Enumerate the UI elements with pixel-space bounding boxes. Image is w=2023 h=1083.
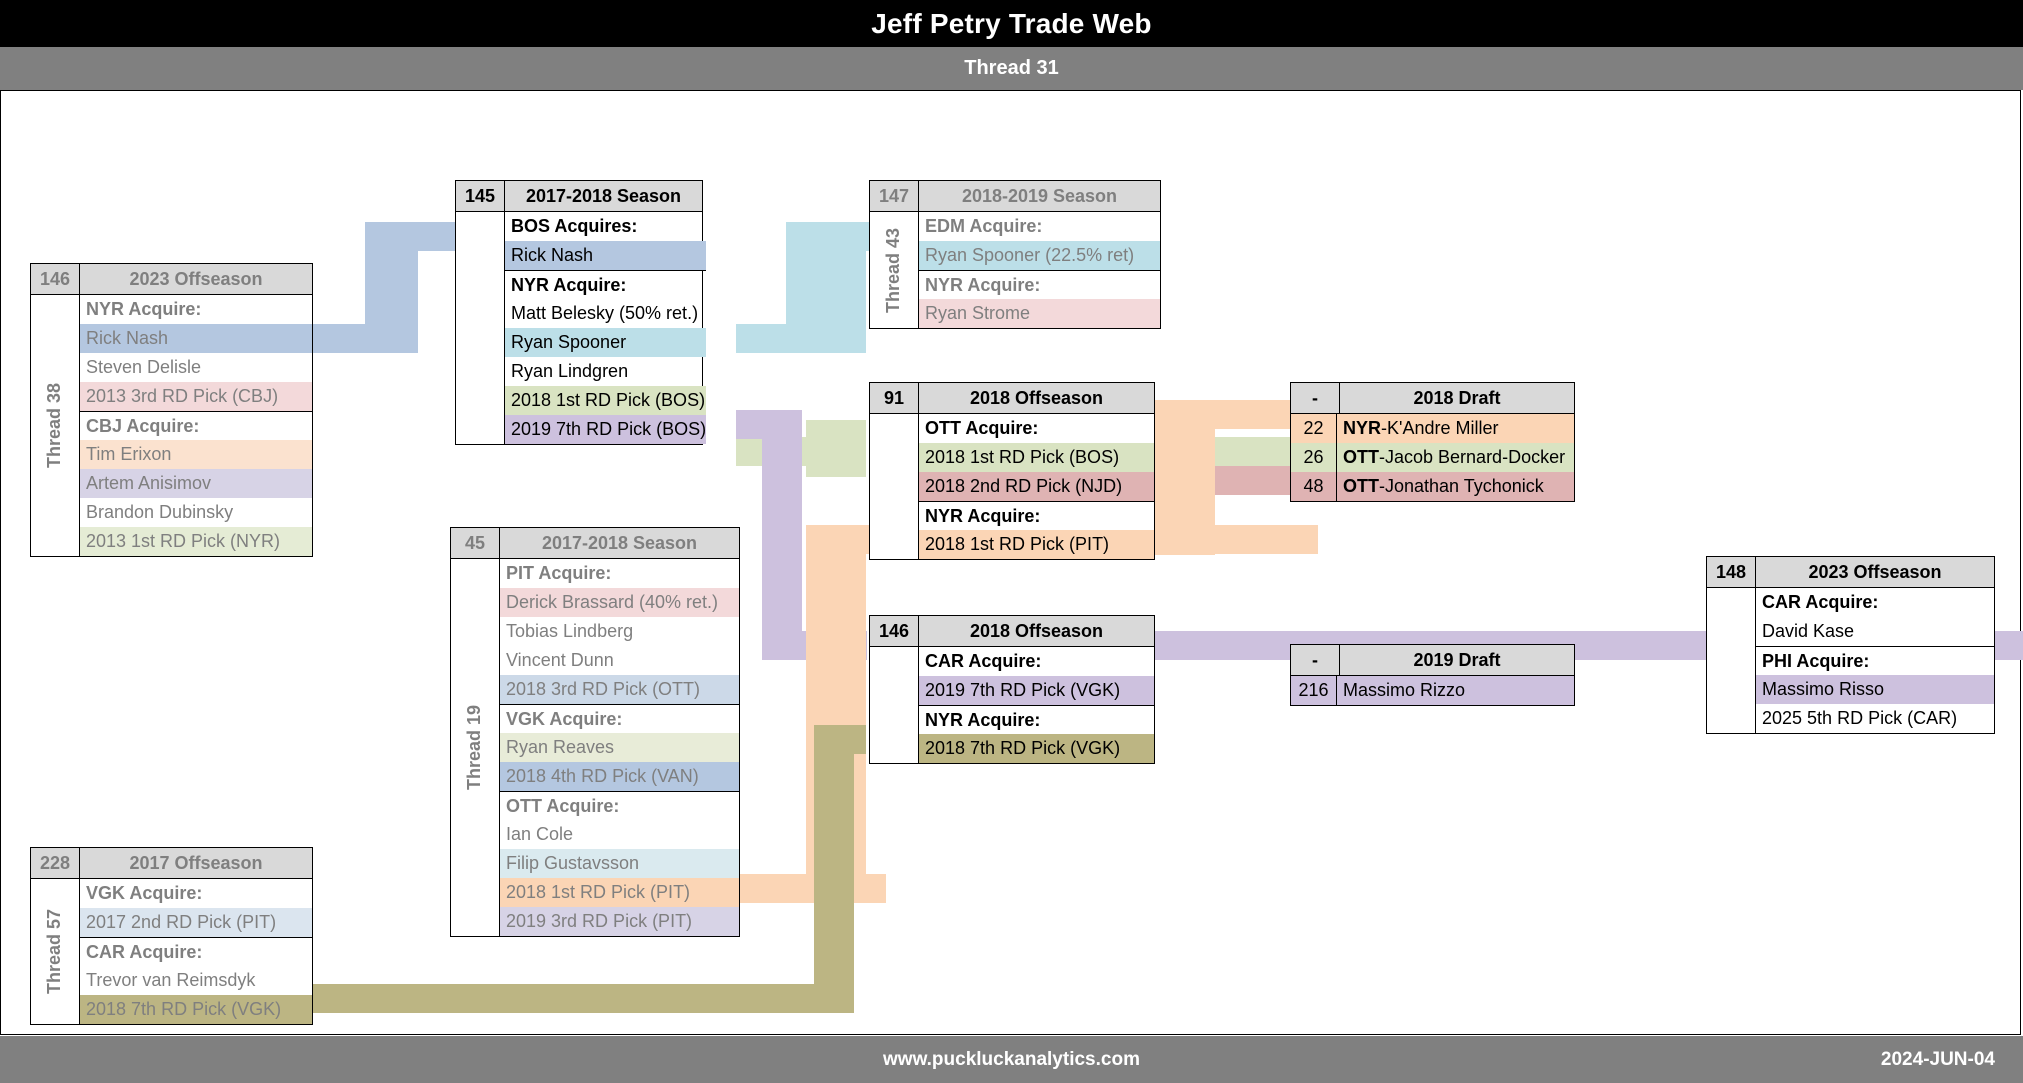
asset-row: Vincent Dunn: [500, 646, 739, 675]
ribbon-2019-7th: [762, 410, 802, 660]
draft-pick-row: 22NYR - K'Andre Miller: [1291, 414, 1574, 443]
thread-label: Thread 19: [465, 705, 486, 790]
card-rows: VGK Acquire:2017 2nd RD Pick (PIT)CAR Ac…: [80, 879, 312, 1024]
asset-row: Rick Nash: [80, 324, 312, 353]
card-rows: PIT Acquire:Derick Brassard (40% ret.)To…: [500, 559, 739, 936]
card-header: 2282017 Offseason: [31, 848, 312, 879]
card-header: 1472018-2019 Season: [870, 181, 1160, 212]
draft-pick-player: Jacob Bernard-Docker: [1385, 447, 1565, 468]
asset-row: 2018 7th RD Pick (VGK): [919, 734, 1154, 763]
card-id: 146: [31, 264, 80, 294]
card-id: 45: [451, 528, 500, 558]
card-rows: BOS Acquires:Rick NashNYR Acquire:Matt B…: [505, 212, 706, 444]
asset-row: Ryan Spooner (22.5% ret): [919, 241, 1160, 270]
card-header: 1462023 Offseason: [31, 264, 312, 295]
card-header: 1452017-2018 Season: [456, 181, 702, 212]
card-rows: CAR Acquire:2019 7th RD Pick (VGK) NYR A…: [919, 647, 1154, 763]
acquire-header-row: CAR Acquire:: [919, 647, 1154, 676]
draft-pick-selection: Massimo Rizzo: [1337, 676, 1574, 705]
thread-label: Thread 43: [884, 227, 905, 312]
thread-column: Thread 43: [870, 212, 919, 328]
acquire-header-row: NYR Acquire:: [80, 295, 312, 324]
draft-pick-row: 26OTT - Jacob Bernard-Docker: [1291, 443, 1574, 472]
asset-row: Ryan Reaves: [500, 733, 739, 762]
trade-card-c228[interactable]: 2282017 OffseasonThread 57VGK Acquire:20…: [30, 847, 313, 1025]
asset-row: 2018 1st RD Pick (BOS): [505, 386, 706, 415]
asset-row: Derick Brassard (40% ret.): [500, 588, 739, 617]
draft-pick-row: 48OTT - Jonathan Tychonick: [1291, 472, 1574, 501]
card-season-label: 2018-2019 Season: [919, 181, 1160, 211]
draft-pick-number: 26: [1291, 443, 1337, 472]
draft-card-header: -2018 Draft: [1291, 383, 1574, 414]
asset-row: 2017 2nd RD Pick (PIT): [80, 908, 312, 937]
trade-card-c148[interactable]: 1482023 OffseasonCAR Acquire:David KaseP…: [1706, 556, 1995, 734]
trade-card-c145[interactable]: 1452017-2018 SeasonBOS Acquires:Rick Nas…: [455, 180, 703, 445]
draft-rows: 22NYR - K'Andre Miller26OTT - Jacob Bern…: [1291, 414, 1574, 501]
asset-row: Ryan Strome: [919, 299, 1160, 328]
acquire-header-row: CBJ Acquire:: [80, 411, 312, 440]
asset-row: Steven Delisle: [80, 353, 312, 382]
acquire-header-row: NYR Acquire:: [919, 270, 1160, 299]
card-season-label: 2023 Offseason: [80, 264, 312, 294]
draft-card-id: -: [1291, 645, 1340, 675]
thread-column: [456, 212, 505, 444]
thread-column: Thread 57: [31, 879, 80, 1024]
acquire-header-row: VGK Acquire:: [80, 879, 312, 908]
trade-card-c146a[interactable]: 1462023 OffseasonThread 38NYR Acquire:Ri…: [30, 263, 313, 557]
card-rows: NYR Acquire:Rick NashSteven Delisle2013 …: [80, 295, 312, 556]
trade-card-c146b[interactable]: 1462018 OffseasonCAR Acquire:2019 7th RD…: [869, 615, 1155, 764]
trade-card-c45[interactable]: 452017-2018 SeasonThread 19PIT Acquire:D…: [450, 527, 740, 937]
card-rows: OTT Acquire:2018 1st RD Pick (BOS)2018 2…: [919, 414, 1154, 559]
asset-row: David Kase: [1756, 617, 1994, 646]
trade-card-c147[interactable]: 1472018-2019 SeasonThread 43EDM Acquire:…: [869, 180, 1161, 329]
trade-card-c91[interactable]: 912018 OffseasonOTT Acquire:2018 1st RD …: [869, 382, 1155, 560]
acquire-header-row: PIT Acquire:: [500, 559, 739, 588]
asset-row: Ryan Spooner: [505, 328, 706, 357]
acquire-header-row: NYR Acquire:: [505, 270, 706, 299]
asset-row: Massimo Risso: [1756, 675, 1994, 704]
card-id: 91: [870, 383, 919, 413]
asset-row: 2013 3rd RD Pick (CBJ): [80, 382, 312, 411]
card-header: 1462018 Offseason: [870, 616, 1154, 647]
draft-card-id: -: [1291, 383, 1340, 413]
card-body: Thread 19PIT Acquire:Derick Brassard (40…: [451, 559, 739, 936]
card-body: Thread 43EDM Acquire:Ryan Spooner (22.5%…: [870, 212, 1160, 328]
asset-row: Rick Nash: [505, 241, 706, 270]
card-body: CAR Acquire:2019 7th RD Pick (VGK) NYR A…: [870, 647, 1154, 763]
asset-row: 2018 1st RD Pick (PIT): [500, 878, 739, 907]
ribbon-bos-1st: [806, 420, 866, 449]
card-season-label: 2023 Offseason: [1756, 557, 1994, 587]
acquire-header-row: BOS Acquires:: [505, 212, 706, 241]
asset-row: Ian Cole: [500, 820, 739, 849]
acquire-header-row: PHI Acquire:: [1756, 646, 1994, 675]
card-season-label: 2018 Offseason: [919, 383, 1154, 413]
draft-pick-selection: OTT - Jacob Bernard-Docker: [1337, 443, 1574, 472]
card-header: 1482023 Offseason: [1707, 557, 1994, 588]
acquire-header-row: CAR Acquire:: [1756, 588, 1994, 617]
ribbon-vgk-7th: [814, 725, 866, 754]
card-id: 146: [870, 616, 919, 646]
card-body: CAR Acquire:David KasePHI Acquire:Massim…: [1707, 588, 1994, 733]
asset-row: Trevor van Reimsdyk: [80, 966, 312, 995]
card-body: Thread 57VGK Acquire:2017 2nd RD Pick (P…: [31, 879, 312, 1024]
acquire-header-row: EDM Acquire:: [919, 212, 1160, 241]
asset-row: Tobias Lindberg: [500, 617, 739, 646]
asset-row: Filip Gustavsson: [500, 849, 739, 878]
card-rows: EDM Acquire:Ryan Spooner (22.5% ret)NYR …: [919, 212, 1160, 328]
card-body: OTT Acquire:2018 1st RD Pick (BOS)2018 2…: [870, 414, 1154, 559]
asset-row: Tim Erixon: [80, 440, 312, 469]
acquire-header-row: VGK Acquire:: [500, 704, 739, 733]
draft-pick-player: Massimo Rizzo: [1343, 680, 1465, 701]
card-id: 147: [870, 181, 919, 211]
asset-row: 2018 1st RD Pick (PIT): [919, 530, 1154, 559]
asset-row: 2018 7th RD Pick (VGK): [80, 995, 312, 1024]
draft-card-title: 2018 Draft: [1340, 383, 1574, 413]
asset-row: 2013 1st RD Pick (NYR): [80, 527, 312, 556]
draft-card-d2018[interactable]: -2018 Draft22NYR - K'Andre Miller26OTT -…: [1290, 382, 1575, 502]
trade-web-page: Jeff Petry Trade Web Thread 31 1462023 O…: [0, 0, 2023, 1083]
thread-column: [1707, 588, 1756, 733]
asset-row: Ryan Lindgren: [505, 357, 706, 386]
draft-pick-row: 216Massimo Rizzo: [1291, 676, 1574, 705]
asset-row: 2019 3rd RD Pick (PIT): [500, 907, 739, 936]
draft-card-d2019[interactable]: -2019 Draft216Massimo Rizzo: [1290, 644, 1575, 706]
acquire-header-row: CAR Acquire:: [80, 937, 312, 966]
card-season-label: 2018 Offseason: [919, 616, 1154, 646]
card-body: BOS Acquires:Rick NashNYR Acquire:Matt B…: [456, 212, 702, 444]
draft-pick-number: 22: [1291, 414, 1337, 443]
acquire-header-row: NYR Acquire:: [919, 705, 1154, 734]
acquire-header-row: OTT Acquire:: [500, 791, 739, 820]
draft-card-header: -2019 Draft: [1291, 645, 1574, 676]
card-season-label: 2017-2018 Season: [500, 528, 739, 558]
card-season-label: 2017-2018 Season: [505, 181, 702, 211]
page-title: Jeff Petry Trade Web: [0, 0, 2023, 47]
asset-row: 2018 4th RD Pick (VAN): [500, 762, 739, 791]
draft-rows: 216Massimo Rizzo: [1291, 676, 1574, 705]
draft-pick-player: K'Andre Miller: [1387, 418, 1498, 439]
asset-row: 2025 5th RD Pick (CAR): [1756, 704, 1994, 733]
card-rows: CAR Acquire:David KasePHI Acquire:Massim…: [1756, 588, 1994, 733]
asset-row: Brandon Dubinsky: [80, 498, 312, 527]
thread-column: [870, 647, 919, 763]
card-id: 148: [1707, 557, 1756, 587]
thread-column: Thread 38: [31, 295, 80, 556]
asset-row: Artem Anisimov: [80, 469, 312, 498]
asset-row: 2018 3rd RD Pick (OTT): [500, 675, 739, 704]
draft-pick-team: NYR: [1343, 418, 1381, 439]
ribbon-vgk-7th: [313, 984, 843, 1013]
thread-column: [870, 414, 919, 559]
asset-row: 2018 2nd RD Pick (NJD): [919, 472, 1154, 501]
acquire-header-row: NYR Acquire:: [919, 501, 1154, 530]
card-header: 452017-2018 Season: [451, 528, 739, 559]
draft-card-title: 2019 Draft: [1340, 645, 1574, 675]
draft-pick-number: 216: [1291, 676, 1337, 705]
ribbon-pit-1st: [1155, 525, 1318, 554]
card-id: 145: [456, 181, 505, 211]
thread-subtitle: Thread 31: [0, 47, 2023, 90]
acquire-header-row: OTT Acquire:: [919, 414, 1154, 443]
draft-pick-selection: NYR - K'Andre Miller: [1337, 414, 1574, 443]
footer-date: 2024-JUN-04: [1881, 1036, 1995, 1083]
footer-site: www.puckluckanalytics.com: [0, 1036, 2023, 1083]
thread-column: Thread 19: [451, 559, 500, 936]
thread-label: Thread 57: [45, 909, 66, 994]
card-id: 228: [31, 848, 80, 878]
asset-row: Matt Belesky (50% ret.): [505, 299, 706, 328]
thread-label: Thread 38: [45, 383, 66, 468]
draft-pick-player: Jonathan Tychonick: [1385, 476, 1544, 497]
asset-row: 2019 7th RD Pick (VGK): [919, 676, 1154, 705]
draft-pick-team: OTT: [1343, 447, 1379, 468]
ribbon-vgk-7th: [814, 725, 854, 1013]
card-header: 912018 Offseason: [870, 383, 1154, 414]
footer: www.puckluckanalytics.com 2024-JUN-04: [0, 1036, 2023, 1083]
card-body: Thread 38NYR Acquire:Rick NashSteven Del…: [31, 295, 312, 556]
asset-row: 2019 7th RD Pick (BOS): [505, 415, 706, 444]
draft-pick-selection: OTT - Jonathan Tychonick: [1337, 472, 1574, 501]
draft-pick-team: OTT: [1343, 476, 1379, 497]
draft-pick-number: 48: [1291, 472, 1337, 501]
asset-row: 2018 1st RD Pick (BOS): [919, 443, 1154, 472]
card-season-label: 2017 Offseason: [80, 848, 312, 878]
